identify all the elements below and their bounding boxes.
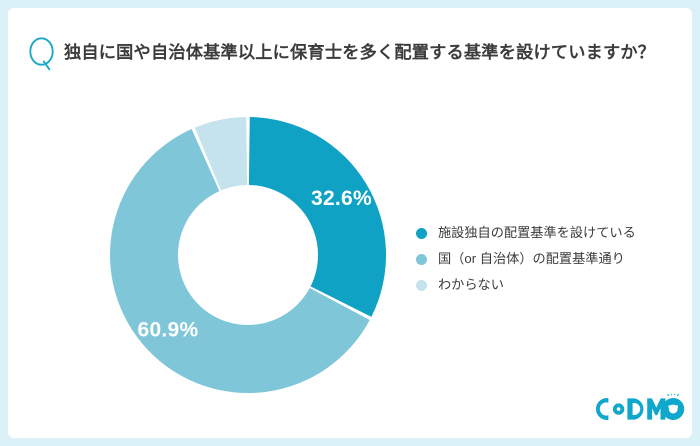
legend-color-dot-icon: [416, 228, 427, 239]
codmon-logo[interactable]: [593, 394, 685, 424]
page-title: 独自に国や自治体基準以上に保育士を多く配置する基準を設けていますか？: [64, 44, 655, 61]
legend-item-label: 施設独自の配置基準を設けている: [438, 226, 636, 239]
legend-color-dot-icon: [416, 254, 427, 265]
donut-chart: 32.6% 60.9%: [102, 109, 394, 401]
legend-color-dot-icon: [416, 280, 427, 291]
donut-slices: [110, 117, 386, 393]
question-mark-q-icon: [20, 34, 64, 72]
legend-item-label: 国（or 自治体）の配置基準通り: [438, 252, 625, 265]
legend-item-label: わからない: [438, 278, 504, 291]
question-header: 独自に国や自治体基準以上に保育士を多く配置する基準を設けていますか？: [8, 30, 692, 76]
legend-item-0[interactable]: 施設独自の配置基準を設けている: [416, 220, 684, 246]
donut-slice-label-0: 32.6%: [311, 187, 372, 210]
survey-result-card: 独自に国や自治体基準以上に保育士を多く配置する基準を設けていますか？ 32.6%…: [8, 8, 692, 438]
legend-item-1[interactable]: 国（or 自治体）の配置基準通り: [416, 246, 684, 272]
donut-slice-0[interactable]: [249, 117, 386, 317]
donut-slice-label-1: 60.9%: [137, 319, 198, 342]
chart-legend: 施設独自の配置基準を設けている 国（or 自治体）の配置基準通り わからない: [416, 220, 684, 298]
legend-item-2[interactable]: わからない: [416, 272, 684, 298]
